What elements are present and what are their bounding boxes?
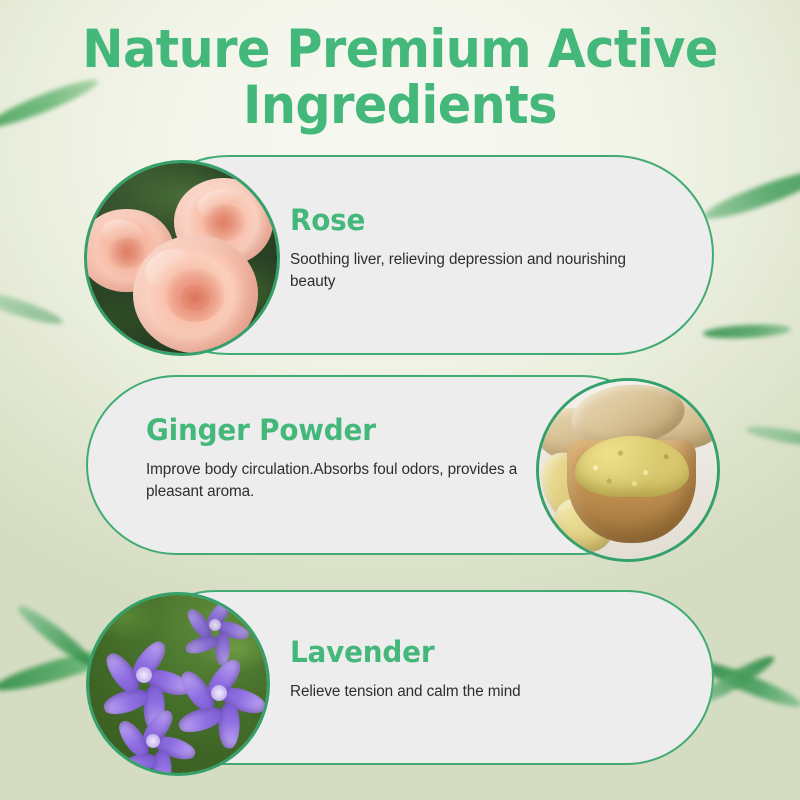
leaf-icon: [745, 423, 800, 451]
ginger-powder-photo: [536, 378, 720, 562]
lavender-photo: [86, 592, 270, 776]
ingredient-name-ginger-powder: Ginger Powder: [146, 415, 530, 447]
ingredient-name-lavender: Lavender: [290, 637, 657, 669]
leaf-icon: [0, 286, 65, 330]
ingredient-card-ginger-powder-text: Ginger Powder Improve body circulation.A…: [146, 415, 546, 502]
page-title-line-2: Ingredients: [28, 78, 772, 134]
leaf-icon: [700, 164, 800, 227]
leaf-icon: [703, 323, 792, 341]
ingredient-description-ginger-powder: Improve body circulation.Absorbs foul od…: [146, 459, 546, 502]
lavender-flower: [107, 695, 200, 776]
page-title-line-1: Nature Premium Active: [28, 22, 772, 78]
ingredient-name-rose: Rose: [290, 205, 657, 237]
ingredient-card-lavender-text: Lavender Relieve tension and calm the mi…: [290, 637, 672, 703]
ingredients-poster: Nature Premium Active Ingredients Rose S…: [0, 0, 800, 800]
ingredient-description-lavender: Relieve tension and calm the mind: [290, 681, 672, 703]
ingredient-description-rose: Soothing liver, relieving depression and…: [290, 249, 672, 292]
leaf-icon: [13, 600, 98, 672]
rose-bloom-center: [133, 235, 258, 353]
lavender-petal: [219, 703, 240, 748]
ingredient-card-rose-text: Rose Soothing liver, relieving depressio…: [290, 205, 672, 292]
rose-photo: [84, 160, 280, 356]
page-title: Nature Premium Active Ingredients: [28, 22, 772, 134]
